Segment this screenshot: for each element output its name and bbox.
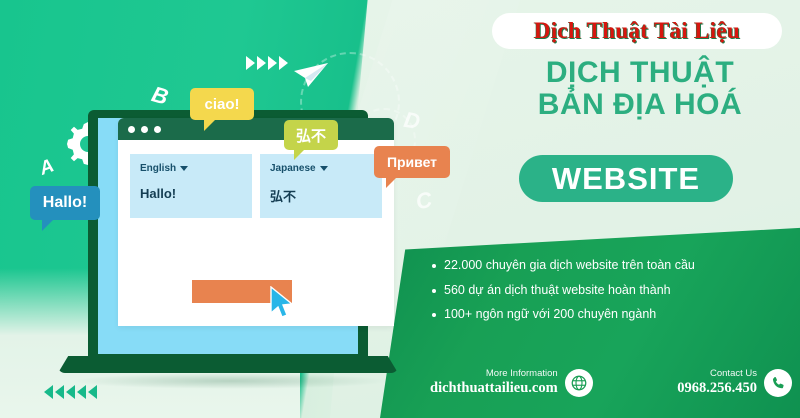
- list-item-text: 560 dự án dịch thuật website hoàn thành: [444, 283, 671, 299]
- promo-banner: A B C D English: [0, 0, 800, 418]
- source-language-selector[interactable]: English: [140, 163, 242, 174]
- chevron-right-icon: [279, 56, 288, 70]
- bubble-tail: [204, 119, 216, 131]
- translator-panes: English Hallo! Japanese 弘不: [130, 154, 382, 218]
- speech-bubble-ciao: ciao!: [190, 88, 254, 120]
- footer-contact-text: Contact Us 0968.256.450: [677, 369, 757, 397]
- more-information-label: More Information: [430, 369, 558, 380]
- bubble-tail: [42, 219, 54, 231]
- list-item: 22.000 chuyên gia dịch website trên toàn…: [432, 258, 792, 274]
- chevron-down-icon: [180, 166, 188, 171]
- speech-bubble-japanese: 弘不: [284, 120, 338, 150]
- chevron-row-left: [44, 385, 97, 399]
- source-text: Hallo!: [140, 186, 242, 201]
- speech-bubble-privet-text: Привет: [387, 154, 437, 170]
- bubble-tail: [386, 177, 397, 188]
- speech-bubble-hallo: Hallo!: [30, 186, 100, 220]
- footer-website-text: More Information dichthuattailieu.com: [430, 369, 558, 397]
- footer: More Information dichthuattailieu.com Co…: [430, 360, 792, 406]
- chevron-left-icon: [55, 385, 64, 399]
- window-dot-icon[interactable]: [128, 126, 135, 133]
- window-dot-icon[interactable]: [141, 126, 148, 133]
- chevron-right-icon: [257, 56, 266, 70]
- website-badge: WEBSITE: [519, 155, 733, 202]
- chevron-left-icon: [77, 385, 86, 399]
- bubble-tail: [294, 149, 305, 160]
- globe-icon-glyph: [570, 374, 588, 392]
- feature-bullet-list: 22.000 chuyên gia dịch website trên toàn…: [432, 258, 792, 332]
- website-badge-label: WEBSITE: [552, 161, 700, 197]
- chevron-down-icon: [320, 166, 328, 171]
- laptop-shadow: [70, 373, 390, 389]
- translator-window: English Hallo! Japanese 弘不: [118, 118, 394, 326]
- chevron-left-icon: [44, 385, 53, 399]
- footer-contact-block[interactable]: Contact Us 0968.256.450: [677, 369, 792, 397]
- chevron-left-icon: [88, 385, 97, 399]
- target-pane[interactable]: Japanese 弘不: [260, 154, 382, 218]
- target-language-label: Japanese: [270, 163, 316, 174]
- bullet-dot-icon: [432, 289, 436, 293]
- chevron-left-icon: [66, 385, 75, 399]
- phone-number[interactable]: 0968.256.450: [677, 380, 757, 397]
- headline-line-2: BẢN ĐỊA HOÁ: [492, 89, 788, 121]
- brand-pill: Dịch Thuật Tài Liệu: [492, 13, 782, 49]
- footer-website-block[interactable]: More Information dichthuattailieu.com: [430, 369, 593, 397]
- window-dot-icon[interactable]: [154, 126, 161, 133]
- paper-plane-icon: [292, 62, 330, 88]
- headline-line-1: DỊCH THUẬT: [492, 57, 788, 89]
- decorative-letter-a: A: [37, 156, 56, 179]
- speech-bubble-privet: Привет: [374, 146, 450, 178]
- speech-bubble-ciao-text: ciao!: [204, 96, 239, 113]
- laptop-base: [58, 356, 398, 373]
- list-item: 100+ ngôn ngữ với 200 chuyên ngành: [432, 307, 792, 323]
- chevron-right-icon: [268, 56, 277, 70]
- list-item-text: 100+ ngôn ngữ với 200 chuyên ngành: [444, 307, 656, 323]
- window-content: English Hallo! Japanese 弘不: [118, 140, 394, 218]
- phone-icon-glyph: [770, 375, 787, 392]
- website-url[interactable]: dichthuattailieu.com: [430, 380, 558, 397]
- phone-icon: [764, 369, 792, 397]
- speech-bubble-japanese-text: 弘不: [296, 125, 326, 146]
- decorative-letter-b: B: [149, 83, 170, 109]
- globe-icon: [565, 369, 593, 397]
- bullet-dot-icon: [432, 264, 436, 268]
- contact-us-label: Contact Us: [677, 369, 757, 380]
- speech-bubble-hallo-text: Hallo!: [43, 194, 87, 212]
- target-text: 弘不: [270, 186, 372, 205]
- window-title-bar: [118, 118, 394, 140]
- chevron-right-icon: [246, 56, 255, 70]
- chevron-row-right: [246, 56, 288, 70]
- bullet-dot-icon: [432, 313, 436, 317]
- list-item: 560 dự án dịch thuật website hoàn thành: [432, 283, 792, 299]
- headline: DỊCH THUẬT BẢN ĐỊA HOÁ: [492, 57, 788, 121]
- brand-title: Dịch Thuật Tài Liệu: [534, 18, 740, 44]
- source-language-label: English: [140, 163, 176, 174]
- target-language-selector[interactable]: Japanese: [270, 163, 372, 174]
- list-item-text: 22.000 chuyên gia dịch website trên toàn…: [444, 258, 695, 274]
- mouse-cursor-icon: [270, 286, 296, 320]
- source-pane[interactable]: English Hallo!: [130, 154, 252, 218]
